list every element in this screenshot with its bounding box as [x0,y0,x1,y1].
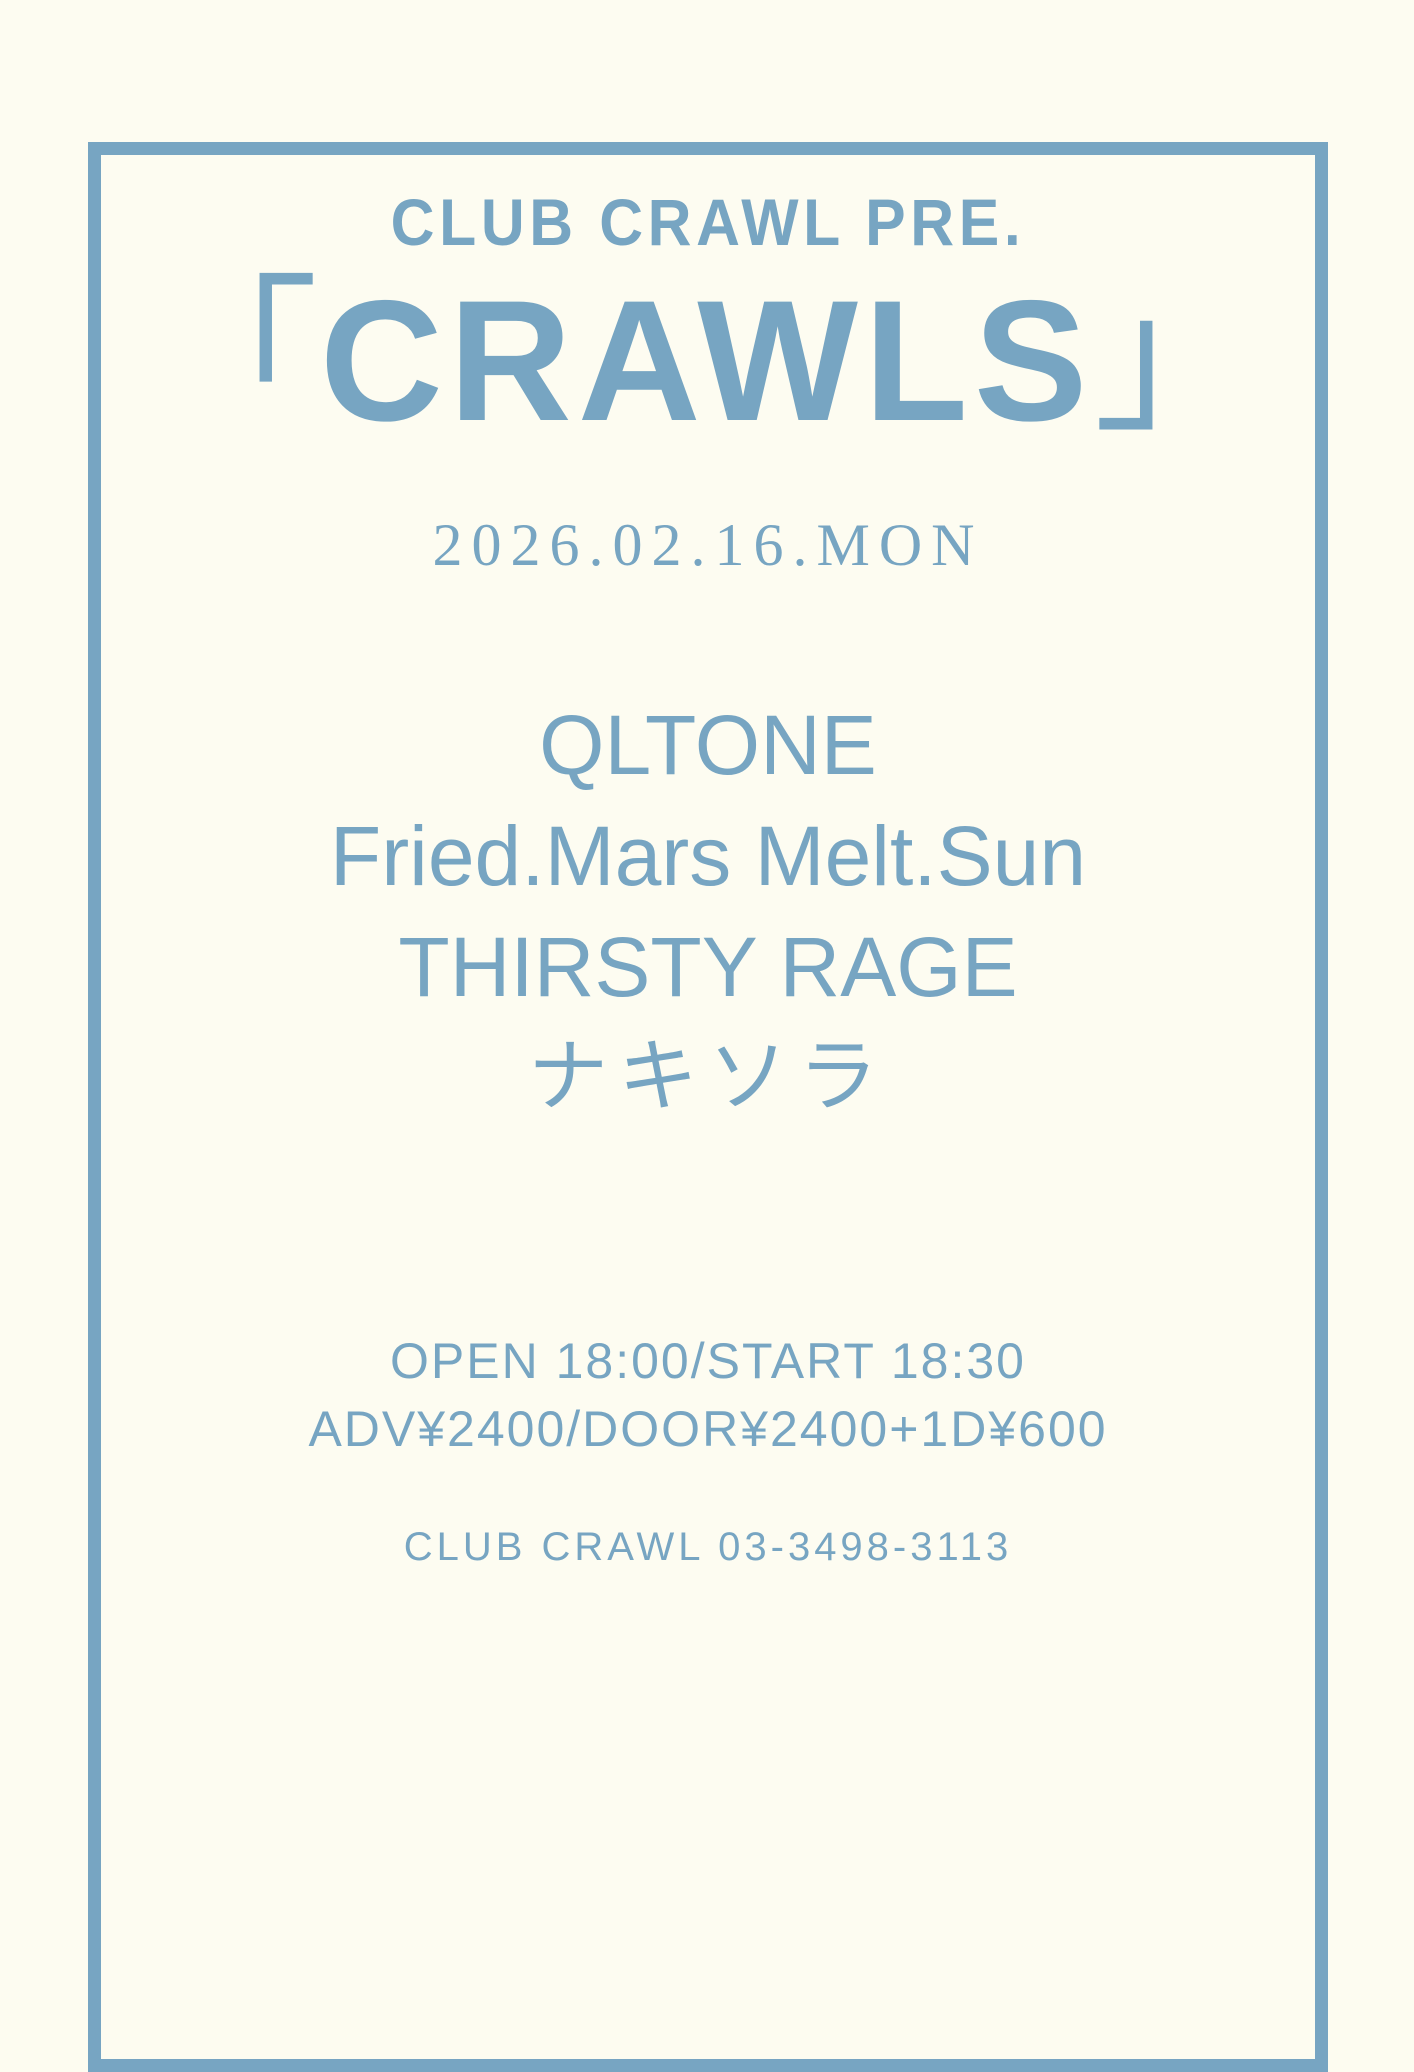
event-title-text: CRAWLS [320,275,1093,447]
presenter-line: CLUB CRAWL PRE. [180,188,1236,257]
bracket-close-glyph: 」 [1094,275,1266,440]
bracket-open-glyph: 「 [150,275,322,440]
door-times: OPEN 18:00/START 18:30 [134,1327,1282,1395]
event-title: 「 CRAWLS 」 [134,275,1282,447]
lineup-item: ナキソラ [134,1023,1282,1131]
ticket-prices: ADV¥2400/DOOR¥2400+1D¥600 [134,1395,1282,1463]
venue-contact: CLUB CRAWL 03-3498-3113 [134,1525,1282,1570]
lineup-item: Fried.Mars Melt.Sun [134,801,1282,912]
event-flyer: CLUB CRAWL PRE. 「 CRAWLS 」 2026.02.16.MO… [0,0,1414,2000]
poster-content: CLUB CRAWL PRE. 「 CRAWLS 」 2026.02.16.MO… [88,142,1328,2072]
lineup-list: QLTONE Fried.Mars Melt.Sun THIRSTY RAGE … [134,690,1282,1131]
event-info: OPEN 18:00/START 18:30 ADV¥2400/DOOR¥240… [134,1327,1282,1463]
lineup-item: THIRSTY RAGE [134,912,1282,1023]
lineup-item: QLTONE [134,690,1282,801]
event-date: 2026.02.16.MON [134,511,1282,580]
